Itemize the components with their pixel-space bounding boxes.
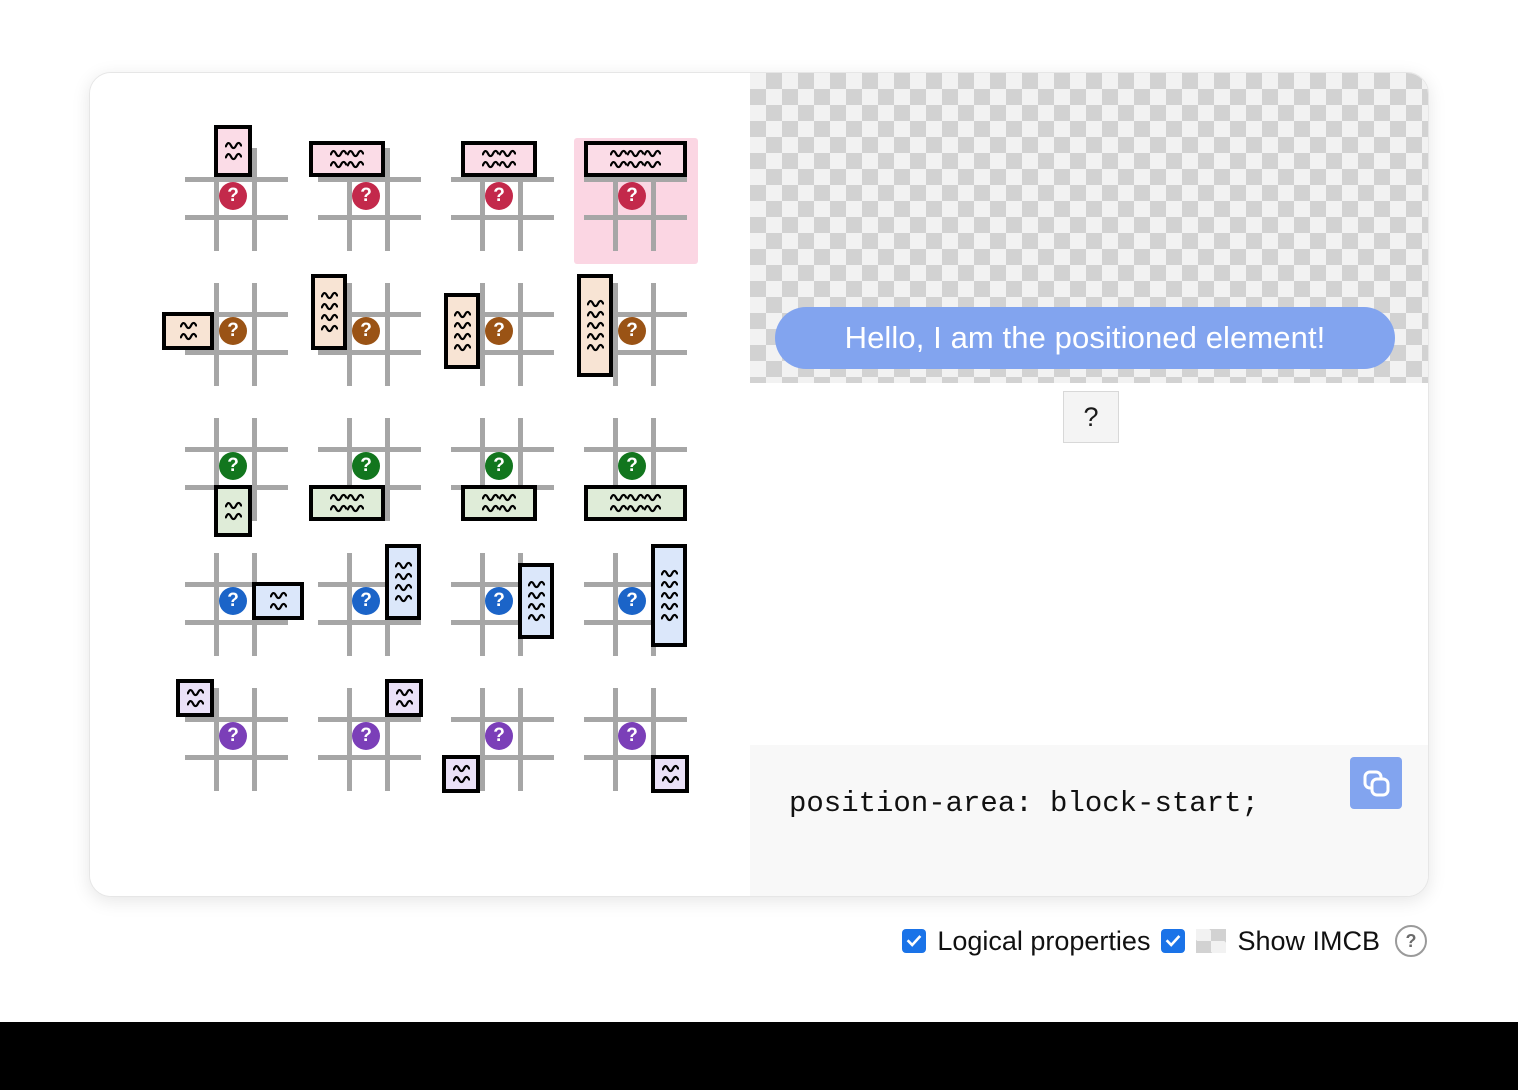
tile-inner: ? xyxy=(438,540,571,675)
anchor-marker-icon: ? xyxy=(352,587,380,615)
position-area-tile[interactable]: ? xyxy=(571,135,704,270)
grid-line-horizontal xyxy=(584,215,687,220)
grid-line-horizontal xyxy=(185,350,288,355)
squiggle-text xyxy=(607,145,664,173)
grid-line-vertical xyxy=(214,283,219,386)
position-area-tile[interactable]: ? xyxy=(305,405,438,540)
grid-line-vertical xyxy=(252,418,257,521)
grid-line-vertical xyxy=(480,283,485,386)
anchor-marker-icon: ? xyxy=(618,722,646,750)
anchor-marker-icon: ? xyxy=(618,182,646,210)
controls-bar: Logical properties Show IMCB ? xyxy=(0,925,1427,957)
tile-inner: ? xyxy=(571,270,704,405)
grid-line-vertical xyxy=(613,688,618,791)
positioned-box xyxy=(385,544,421,620)
anchor-element: ? xyxy=(1063,391,1119,443)
squiggle-text xyxy=(661,759,680,789)
grid-line-horizontal xyxy=(451,215,554,220)
positioned-element: Hello, I am the positioned element! xyxy=(775,307,1395,369)
position-area-tile[interactable]: ? xyxy=(305,270,438,405)
tile-inner: ? xyxy=(438,405,571,540)
positioned-box xyxy=(214,125,252,177)
anchor-marker-icon: ? xyxy=(219,452,247,480)
position-area-tile[interactable]: ? xyxy=(438,135,571,270)
anchor-marker-icon: ? xyxy=(485,722,513,750)
positioned-box xyxy=(577,274,613,377)
anchor-marker-icon: ? xyxy=(219,182,247,210)
anchor-marker-icon: ? xyxy=(219,587,247,615)
positioned-box xyxy=(584,485,687,521)
tile-inner: ? xyxy=(172,540,305,675)
positioned-box xyxy=(309,141,385,177)
grid-line-vertical xyxy=(347,688,352,791)
grid-line-vertical xyxy=(480,553,485,656)
positioned-box xyxy=(252,582,304,620)
grid-line-vertical xyxy=(385,418,390,521)
code-block: position-area: block-start; xyxy=(750,745,1428,896)
anchor-marker-icon: ? xyxy=(219,722,247,750)
grid-line-horizontal xyxy=(318,447,421,452)
squiggle-text xyxy=(480,145,518,173)
squiggle-text xyxy=(186,683,205,713)
grid-line-horizontal xyxy=(185,447,288,452)
positioned-box xyxy=(651,544,687,647)
position-area-tile[interactable]: ? xyxy=(438,270,571,405)
position-area-tile[interactable]: ? xyxy=(305,675,438,810)
grid-line-horizontal xyxy=(185,215,288,220)
tile-inner: ? xyxy=(305,540,438,675)
anchor-marker-icon: ? xyxy=(219,317,247,345)
grid-line-horizontal xyxy=(451,717,554,722)
grid-line-vertical xyxy=(252,148,257,251)
grid-line-vertical xyxy=(480,688,485,791)
position-area-card: ???????????????????? Hello, I am the pos… xyxy=(89,72,1429,897)
position-area-tile[interactable]: ? xyxy=(571,675,704,810)
grid-line-vertical xyxy=(252,688,257,791)
grid-line-horizontal xyxy=(584,447,687,452)
positioned-box xyxy=(461,141,537,177)
tile-inner: ? xyxy=(305,270,438,405)
positioned-box xyxy=(214,485,252,537)
grid-line-horizontal xyxy=(318,717,421,722)
positioned-box xyxy=(584,141,687,177)
logical-properties-checkbox[interactable] xyxy=(902,929,926,953)
anchor-marker-icon: ? xyxy=(485,452,513,480)
position-area-tile[interactable]: ? xyxy=(305,540,438,675)
show-imcb-label: Show IMCB xyxy=(1237,926,1380,957)
grid-line-horizontal xyxy=(185,755,288,760)
anchor-marker-icon: ? xyxy=(485,587,513,615)
tile-inner: ? xyxy=(305,405,438,540)
position-area-tile[interactable]: ? xyxy=(172,135,305,270)
tile-inner: ? xyxy=(571,540,704,675)
anchor-marker-icon: ? xyxy=(618,587,646,615)
squiggle-text xyxy=(586,278,605,373)
grid-line-horizontal xyxy=(318,620,421,625)
grid-line-vertical xyxy=(252,283,257,386)
grid-line-vertical xyxy=(385,283,390,386)
grid-line-vertical xyxy=(214,688,219,791)
grid-line-vertical xyxy=(651,283,656,386)
grid-line-horizontal xyxy=(584,717,687,722)
squiggle-text xyxy=(320,278,339,346)
position-area-tile-grid[interactable]: ???????????????????? xyxy=(172,135,704,810)
imcb-checkerboard-swatch xyxy=(1196,929,1226,953)
positioned-box xyxy=(461,485,537,521)
tile-inner: ? xyxy=(438,270,571,405)
grid-line-horizontal xyxy=(318,215,421,220)
position-area-picker-pane: ???????????????????? xyxy=(90,73,750,896)
anchor-marker-icon: ? xyxy=(352,182,380,210)
anchor-marker-icon: ? xyxy=(618,452,646,480)
position-area-tile[interactable]: ? xyxy=(172,675,305,810)
grid-line-vertical xyxy=(385,148,390,251)
tile-inner: ? xyxy=(305,135,438,270)
tile-inner: ? xyxy=(172,135,305,270)
squiggle-text xyxy=(453,297,472,365)
tile-inner: ? xyxy=(571,135,704,270)
grid-line-horizontal xyxy=(451,177,554,182)
grid-line-horizontal xyxy=(584,177,687,182)
squiggle-text xyxy=(394,548,413,616)
squiggle-text xyxy=(179,316,198,346)
position-area-tile[interactable]: ? xyxy=(571,270,704,405)
grid-line-vertical xyxy=(613,283,618,386)
logical-properties-label: Logical properties xyxy=(937,926,1150,957)
grid-line-horizontal xyxy=(318,350,421,355)
position-area-tile[interactable]: ? xyxy=(571,540,704,675)
positioned-box xyxy=(651,755,689,793)
squiggle-text xyxy=(224,489,243,533)
position-area-tile[interactable]: ? xyxy=(305,135,438,270)
code-text: position-area: block-start; xyxy=(789,787,1259,820)
squiggle-text xyxy=(328,145,366,173)
anchor-marker-icon: ? xyxy=(352,452,380,480)
positioned-box xyxy=(444,293,480,369)
positioned-box xyxy=(442,755,480,793)
tile-inner: ? xyxy=(438,675,571,810)
position-area-tile[interactable]: ? xyxy=(438,540,571,675)
grid-line-vertical xyxy=(214,553,219,656)
tile-inner: ? xyxy=(571,675,704,810)
positioned-box xyxy=(309,485,385,521)
position-area-tile[interactable]: ? xyxy=(438,675,571,810)
tile-inner: ? xyxy=(571,405,704,540)
anchor-marker-icon: ? xyxy=(485,182,513,210)
anchor-marker-icon: ? xyxy=(352,722,380,750)
position-area-tile[interactable]: ? xyxy=(172,540,305,675)
grid-line-vertical xyxy=(347,283,352,386)
anchor-marker-icon: ? xyxy=(618,317,646,345)
position-area-tile[interactable]: ? xyxy=(571,405,704,540)
show-imcb-checkbox[interactable] xyxy=(1161,929,1185,953)
position-area-tile[interactable]: ? xyxy=(438,405,571,540)
positioned-box xyxy=(311,274,347,350)
positioned-box xyxy=(162,312,214,350)
position-area-tile[interactable]: ? xyxy=(172,270,305,405)
anchor-marker-icon: ? xyxy=(485,317,513,345)
grid-line-vertical xyxy=(518,283,523,386)
grid-line-horizontal xyxy=(185,177,288,182)
help-circle-icon[interactable]: ? xyxy=(1395,925,1427,957)
position-area-tile[interactable]: ? xyxy=(172,405,305,540)
grid-line-vertical xyxy=(613,553,618,656)
copy-icon[interactable] xyxy=(1350,757,1402,809)
tile-inner: ? xyxy=(305,675,438,810)
positioned-box xyxy=(385,679,423,717)
bottom-strip xyxy=(0,1022,1518,1090)
grid-line-horizontal xyxy=(318,177,421,182)
squiggle-text xyxy=(527,567,546,635)
grid-line-horizontal xyxy=(185,620,288,625)
grid-line-vertical xyxy=(518,688,523,791)
preview-pane: Hello, I am the positioned element! ? po… xyxy=(750,73,1428,896)
tile-inner: ? xyxy=(172,405,305,540)
squiggle-text xyxy=(480,489,518,517)
grid-line-horizontal xyxy=(318,755,421,760)
squiggle-text xyxy=(269,586,288,616)
help-glyph: ? xyxy=(1406,931,1417,952)
squiggle-text xyxy=(660,548,679,643)
positioned-box xyxy=(518,563,554,639)
squiggle-text xyxy=(224,129,243,173)
grid-line-vertical xyxy=(347,553,352,656)
tile-inner: ? xyxy=(438,135,571,270)
squiggle-text xyxy=(607,489,664,517)
tile-inner: ? xyxy=(172,675,305,810)
squiggle-text xyxy=(328,489,366,517)
squiggle-text xyxy=(395,683,414,713)
grid-line-horizontal xyxy=(451,447,554,452)
positioned-box xyxy=(176,679,214,717)
anchor-marker-icon: ? xyxy=(352,317,380,345)
grid-line-horizontal xyxy=(185,717,288,722)
tile-inner: ? xyxy=(172,270,305,405)
squiggle-text xyxy=(452,759,471,789)
